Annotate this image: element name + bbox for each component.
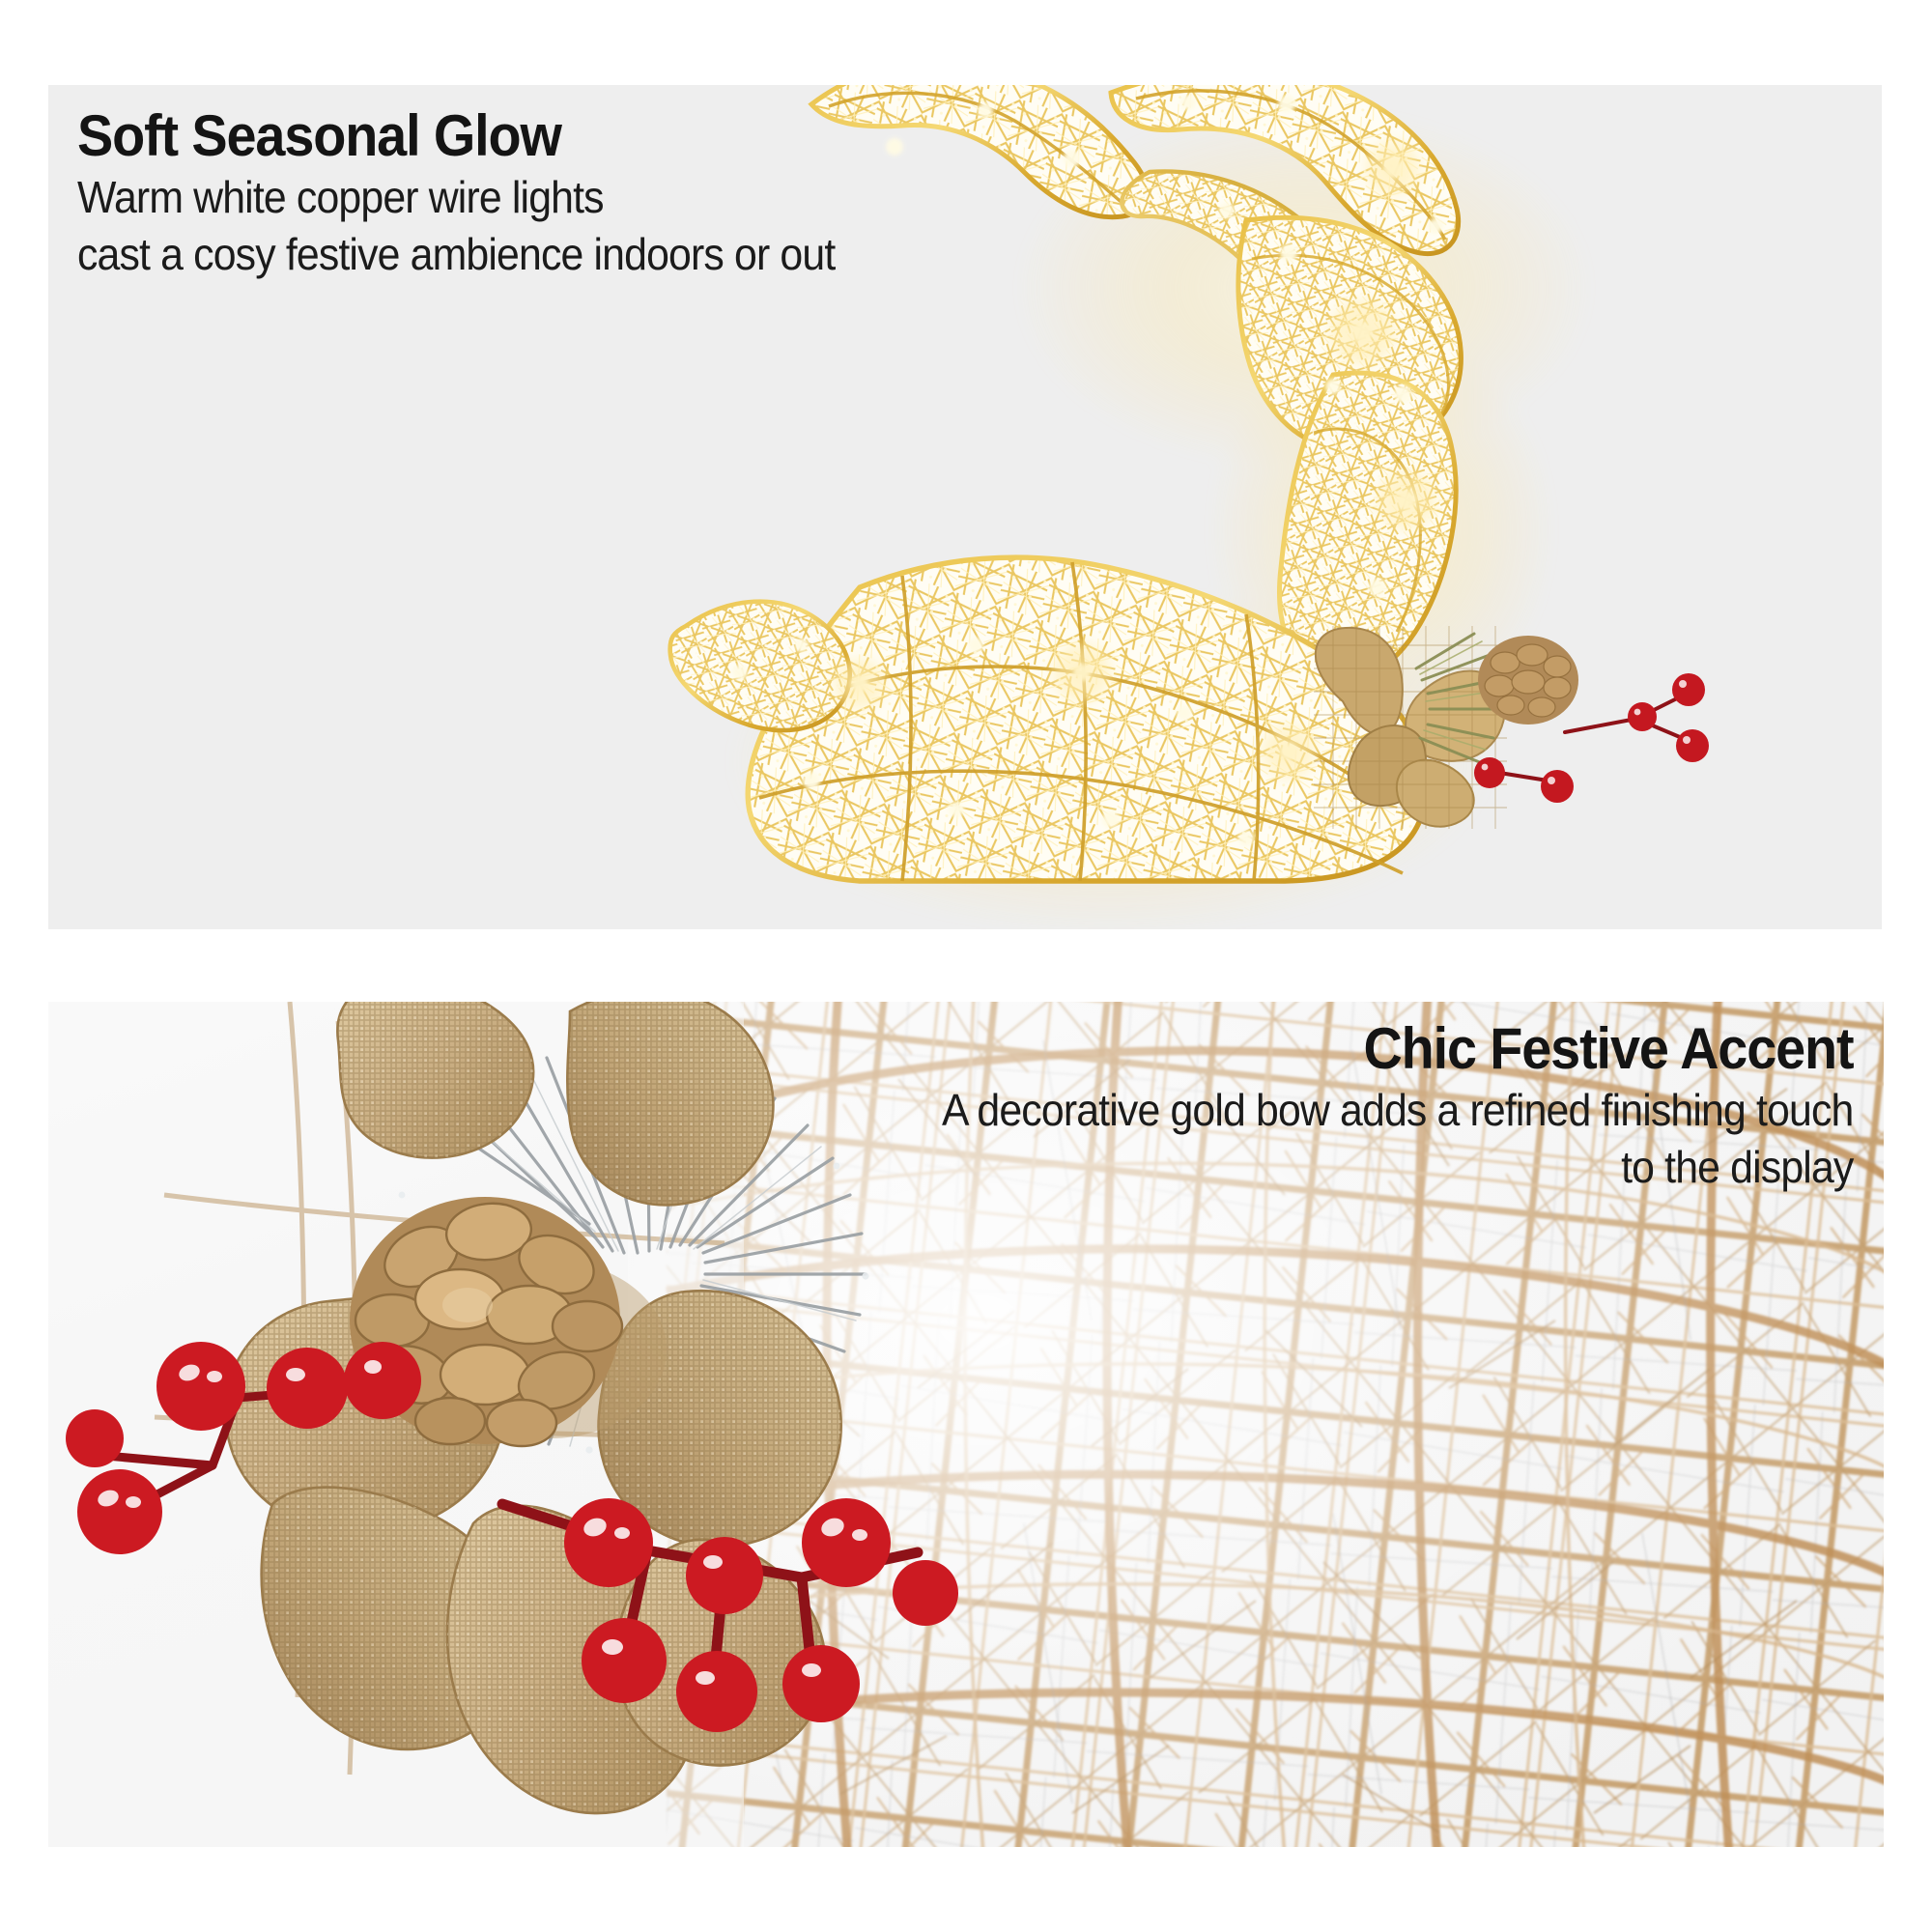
panel-top-subline-1: Warm white copper wire lights bbox=[77, 169, 835, 226]
panel-top-text-block: Soft Seasonal Glow Warm white copper wir… bbox=[77, 106, 892, 283]
panel-top-subline-2: cast a cosy festive ambience indoors or … bbox=[77, 226, 835, 283]
feature-panel-chic-festive-accent: Chic Festive Accent A decorative gold bo… bbox=[48, 1002, 1884, 1847]
panel-top-headline: Soft Seasonal Glow bbox=[77, 106, 835, 165]
panel-bottom-headline: Chic Festive Accent bbox=[942, 1019, 1853, 1078]
bow-pinecone-berry-accent-small bbox=[1314, 626, 1709, 829]
panel-bottom-subline-1: A decorative gold bow adds a refined fin… bbox=[942, 1082, 1853, 1139]
panel-bottom-text-block: Chic Festive Accent A decorative gold bo… bbox=[873, 1019, 1853, 1196]
feature-panel-soft-seasonal-glow: Soft Seasonal Glow Warm white copper wir… bbox=[48, 85, 1882, 929]
feature-panel-sheet: Soft Seasonal Glow Warm white copper wir… bbox=[0, 0, 1932, 1932]
panel-bottom-subline-2: to the display bbox=[942, 1139, 1853, 1196]
